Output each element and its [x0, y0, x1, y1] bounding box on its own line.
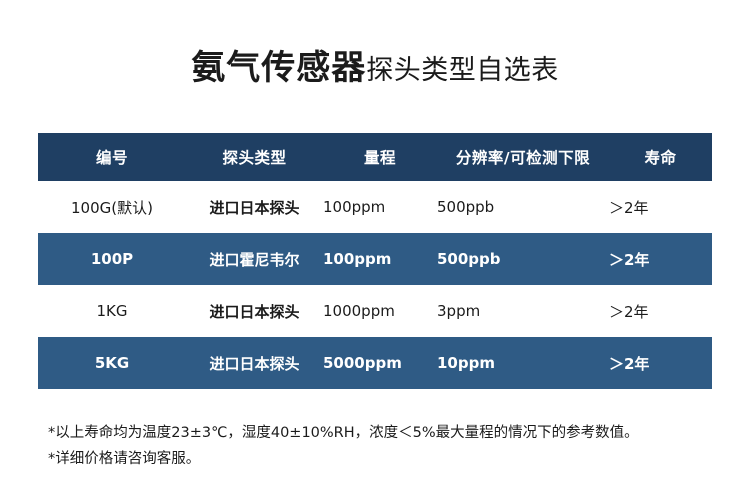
table-cell-code: 100G(默认) — [38, 181, 186, 233]
table-cell-resolution: 500ppb — [437, 233, 609, 285]
title-main: 氨气传感器 — [191, 48, 366, 88]
table-cell-range: 100ppm — [323, 233, 437, 285]
table-header-cell: 探头类型 — [186, 133, 323, 181]
table-cell-resolution: 3ppm — [437, 285, 609, 337]
table-header-cell: 量程 — [323, 133, 437, 181]
table-cell-code: 1KG — [38, 285, 186, 337]
table-cell-lifetime: ＞2年 — [609, 233, 712, 285]
table-cell-probe-type: 进口日本探头 — [186, 285, 323, 337]
spec-sheet-page: 氨气传感器探头类型自选表 编号 探头类型 量程 分辨率/可检测下限 寿命 100… — [0, 0, 750, 495]
table-cell-probe-type: 进口霍尼韦尔 — [186, 233, 323, 285]
footnote-line: *详细价格请咨询客服。 — [48, 446, 728, 472]
table-header-row: 编号 探头类型 量程 分辨率/可检测下限 寿命 — [38, 133, 712, 181]
probe-type-table: 编号 探头类型 量程 分辨率/可检测下限 寿命 100G(默认) 进口日本探头 … — [38, 133, 712, 389]
table-cell-lifetime: ＞2年 — [609, 337, 712, 389]
table-cell-probe-type: 进口日本探头 — [186, 181, 323, 233]
table-cell-range: 5000ppm — [323, 337, 437, 389]
title-sub: 探头类型自选表 — [366, 55, 559, 86]
table-cell-lifetime: ＞2年 — [609, 181, 712, 233]
table-cell-lifetime: ＞2年 — [609, 285, 712, 337]
footnotes: *以上寿命均为温度23±3℃，湿度40±10%RH，浓度＜5%最大量程的情况下的… — [48, 420, 728, 472]
footnote-line: *以上寿命均为温度23±3℃，湿度40±10%RH，浓度＜5%最大量程的情况下的… — [48, 420, 728, 446]
table-row: 100P 进口霍尼韦尔 100ppm 500ppb ＞2年 — [38, 233, 712, 285]
table-cell-range: 1000ppm — [323, 285, 437, 337]
table-row: 1KG 进口日本探头 1000ppm 3ppm ＞2年 — [38, 285, 712, 337]
table-cell-resolution: 500ppb — [437, 181, 609, 233]
table-header-cell: 寿命 — [609, 133, 712, 181]
page-title: 氨气传感器探头类型自选表 — [0, 40, 750, 89]
table-row: 100G(默认) 进口日本探头 100ppm 500ppb ＞2年 — [38, 181, 712, 233]
table-cell-range: 100ppm — [323, 181, 437, 233]
table-cell-code: 5KG — [38, 337, 186, 389]
table-cell-resolution: 10ppm — [437, 337, 609, 389]
table-row: 5KG 进口日本探头 5000ppm 10ppm ＞2年 — [38, 337, 712, 389]
table-header-cell: 编号 — [38, 133, 186, 181]
table-header-cell: 分辨率/可检测下限 — [437, 133, 609, 181]
table-cell-code: 100P — [38, 233, 186, 285]
table-cell-probe-type: 进口日本探头 — [186, 337, 323, 389]
